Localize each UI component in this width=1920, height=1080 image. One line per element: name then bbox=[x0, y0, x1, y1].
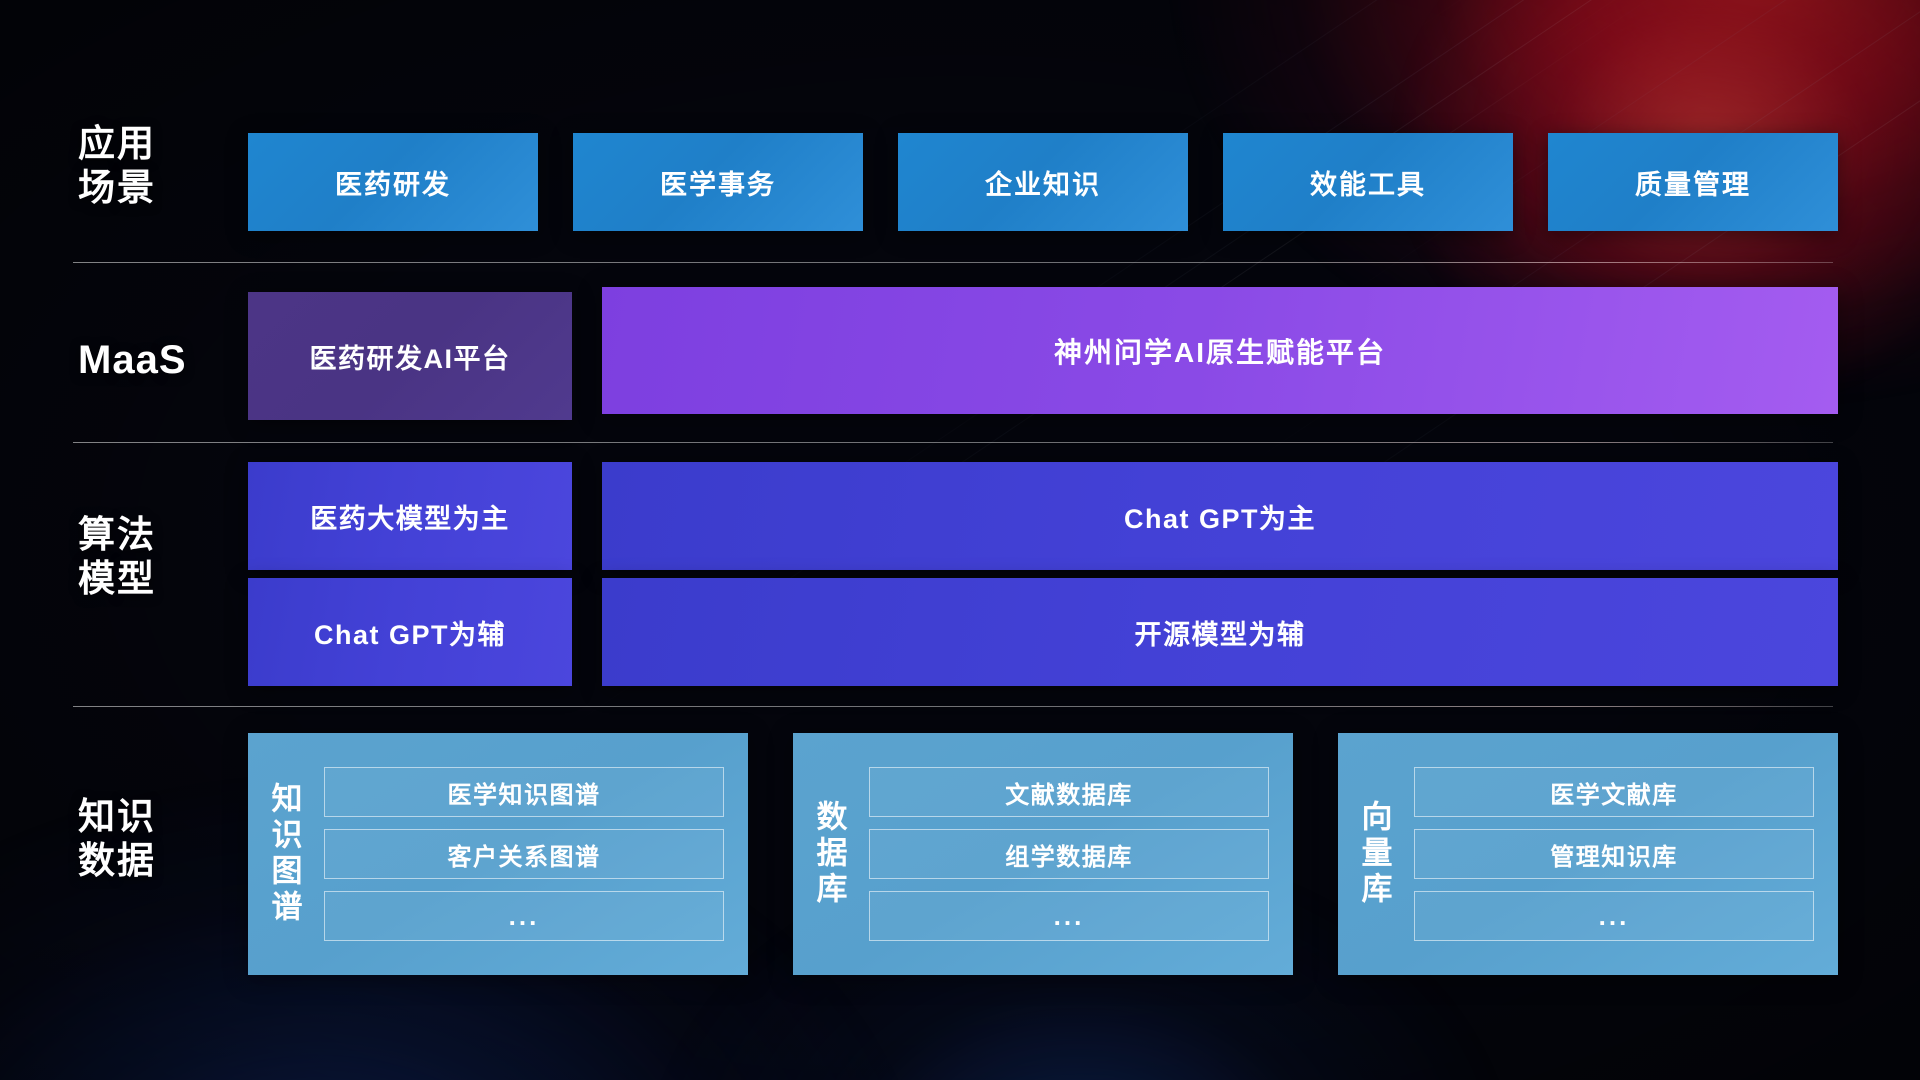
app-scenario-label-2: 医学事务 bbox=[660, 163, 776, 202]
row-label-application: 应用 场景 bbox=[78, 122, 208, 209]
app-scenario-label-1: 医药研发 bbox=[335, 163, 451, 202]
divider-algorithm-knowledge bbox=[73, 706, 1833, 707]
app-scenario-label-4: 效能工具 bbox=[1310, 163, 1426, 202]
knowledge-group-title-2: 数据库 bbox=[793, 733, 865, 975]
knowledge-item-1-1[interactable]: 医学知识图谱 bbox=[324, 767, 724, 817]
algorithm-label-chatgpt-primary: Chat GPT为主 bbox=[1124, 497, 1316, 536]
knowledge-item-3-2[interactable]: 管理知识库 bbox=[1414, 829, 1814, 879]
knowledge-item-3-3[interactable]: ... bbox=[1414, 891, 1814, 941]
algorithm-label-opensource-secondary: 开源模型为辅 bbox=[1135, 613, 1306, 652]
row-label-application-line1: 应用 bbox=[78, 122, 208, 166]
knowledge-group-vector-store[interactable]: 向量库 医学文献库 管理知识库 ... bbox=[1338, 733, 1838, 975]
maas-platform-label-shenzhou: 神州问学AI原生赋能平台 bbox=[1054, 331, 1386, 371]
row-label-application-line2: 场景 bbox=[78, 166, 208, 210]
knowledge-item-1-2[interactable]: 客户关系图谱 bbox=[324, 829, 724, 879]
knowledge-group-items-2: 文献数据库 组学数据库 ... bbox=[865, 733, 1293, 975]
knowledge-item-3-1[interactable]: 医学文献库 bbox=[1414, 767, 1814, 817]
knowledge-item-2-1[interactable]: 文献数据库 bbox=[869, 767, 1269, 817]
knowledge-group-title-1: 知识图谱 bbox=[248, 733, 320, 975]
divider-maas-algorithm bbox=[73, 442, 1833, 443]
algorithm-card-opensource-secondary[interactable]: 开源模型为辅 bbox=[602, 578, 1838, 686]
knowledge-item-1-3[interactable]: ... bbox=[324, 891, 724, 941]
row-label-algorithm: 算法 模型 bbox=[78, 513, 208, 600]
row-label-algorithm-line2: 模型 bbox=[78, 557, 208, 601]
algorithm-card-chatgpt-secondary[interactable]: Chat GPT为辅 bbox=[248, 578, 572, 686]
knowledge-group-items-1: 医学知识图谱 客户关系图谱 ... bbox=[320, 733, 748, 975]
knowledge-item-2-3[interactable]: ... bbox=[869, 891, 1269, 941]
maas-platform-label-medical: 医药研发AI平台 bbox=[310, 337, 511, 376]
row-label-maas-text: MaaS bbox=[78, 338, 187, 382]
app-scenario-card-5[interactable]: 质量管理 bbox=[1548, 133, 1838, 231]
row-label-knowledge-line2: 数据 bbox=[78, 839, 208, 883]
maas-platform-card-medical[interactable]: 医药研发AI平台 bbox=[248, 292, 572, 420]
app-scenario-card-1[interactable]: 医药研发 bbox=[248, 133, 538, 231]
algorithm-label-chatgpt-secondary: Chat GPT为辅 bbox=[314, 613, 506, 652]
divider-application-maas bbox=[73, 262, 1833, 263]
knowledge-item-2-2[interactable]: 组学数据库 bbox=[869, 829, 1269, 879]
maas-platform-card-shenzhou[interactable]: 神州问学AI原生赋能平台 bbox=[602, 287, 1838, 414]
algorithm-label-medical-primary: 医药大模型为主 bbox=[310, 497, 510, 536]
architecture-diagram: 应用 场景 医药研发 医学事务 企业知识 效能工具 质量管理 MaaS 医药研发… bbox=[0, 0, 1920, 1080]
app-scenario-card-4[interactable]: 效能工具 bbox=[1223, 133, 1513, 231]
app-scenario-label-3: 企业知识 bbox=[985, 163, 1101, 202]
app-scenario-card-3[interactable]: 企业知识 bbox=[898, 133, 1188, 231]
algorithm-card-chatgpt-primary[interactable]: Chat GPT为主 bbox=[602, 462, 1838, 570]
knowledge-group-items-3: 医学文献库 管理知识库 ... bbox=[1410, 733, 1838, 975]
row-label-knowledge-line1: 知识 bbox=[78, 795, 208, 839]
app-scenario-label-5: 质量管理 bbox=[1635, 163, 1751, 202]
row-label-knowledge: 知识 数据 bbox=[78, 795, 208, 882]
knowledge-group-title-3: 向量库 bbox=[1338, 733, 1410, 975]
algorithm-card-medical-primary[interactable]: 医药大模型为主 bbox=[248, 462, 572, 570]
row-label-maas: MaaS bbox=[78, 337, 208, 384]
row-label-algorithm-line1: 算法 bbox=[78, 513, 208, 557]
app-scenario-card-2[interactable]: 医学事务 bbox=[573, 133, 863, 231]
knowledge-group-knowledge-graph[interactable]: 知识图谱 医学知识图谱 客户关系图谱 ... bbox=[248, 733, 748, 975]
knowledge-group-database[interactable]: 数据库 文献数据库 组学数据库 ... bbox=[793, 733, 1293, 975]
